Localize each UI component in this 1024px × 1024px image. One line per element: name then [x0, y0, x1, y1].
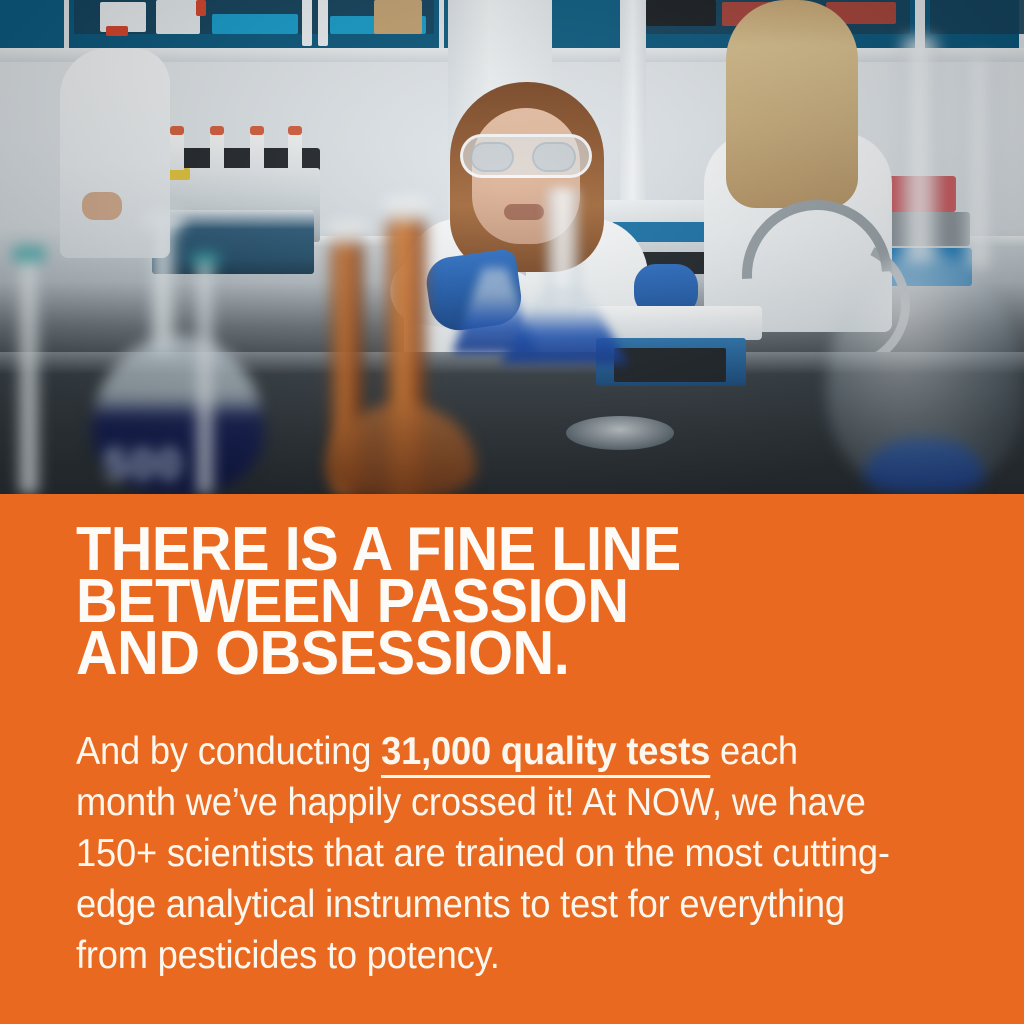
sample-vial-cap-4 [288, 126, 302, 135]
sample-vial-cap-3 [250, 126, 264, 135]
body-copy: And by conducting 31,000 quality tests e… [76, 726, 894, 981]
social-post: 500 THERE IS A FINE LINE BETWEEN PASSION… [0, 0, 1024, 1024]
lab-photo: 500 [0, 0, 1024, 494]
body-highlight: 31,000 quality tests [381, 730, 710, 778]
center-scientist-mouth [504, 204, 544, 220]
orange-text-panel: THERE IS A FINE LINE BETWEEN PASSION AND… [0, 494, 1024, 1024]
cabinet-glass-far-right [930, 0, 1024, 34]
shelf-tubes [302, 0, 312, 46]
sample-vial-cap-1 [170, 126, 184, 135]
shelf-tubes-2 [318, 0, 328, 46]
safety-goggles [460, 134, 592, 178]
balance-display [614, 348, 726, 382]
body-lead: And by conducting [76, 730, 381, 773]
shelf-blue-liquid [212, 14, 298, 34]
petri-dish [566, 416, 674, 450]
shelf-label-red [106, 26, 128, 36]
shelf-marker-red [196, 0, 206, 16]
headline: THERE IS A FINE LINE BETWEEN PASSION AND… [76, 524, 894, 680]
shelf-box-tan [374, 0, 422, 34]
left-scientist-hand [82, 192, 122, 220]
sample-vial-cap-2 [210, 126, 224, 135]
shelf-bottle-b [156, 0, 200, 34]
right-scientist-hair [726, 0, 858, 208]
